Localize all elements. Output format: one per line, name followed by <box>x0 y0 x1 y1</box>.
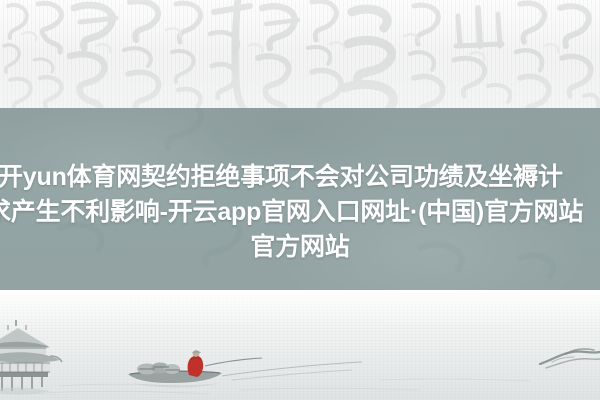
headline-line-1: 开yun体育网契约拒绝事项不会对公司功绩及坐褥计 <box>0 160 600 195</box>
headline-line-2: 求产生不利影响-开云app官网入口网址·(中国)官方网站 <box>0 195 600 230</box>
calligraphy-texture-banner <box>0 0 600 112</box>
landscape-artwork <box>0 290 600 400</box>
boat-cargo <box>137 363 180 375</box>
cursive-calligraphy-strokes <box>0 0 600 112</box>
screenshot-root: 开yun体育网契约拒绝事项不会对公司功绩及坐褥计 求产生不利影响-开云app官网… <box>0 0 600 400</box>
headline-line-3: 官方网站 <box>0 230 600 265</box>
ink-wash-landscape <box>0 290 600 400</box>
headline-overlay-band: 开yun体育网契约拒绝事项不会对公司功绩及坐褥计 求产生不利影响-开云app官网… <box>0 108 600 290</box>
headline-text-block: 开yun体育网契约拒绝事项不会对公司功绩及坐褥计 求产生不利影响-开云app官网… <box>0 160 600 265</box>
